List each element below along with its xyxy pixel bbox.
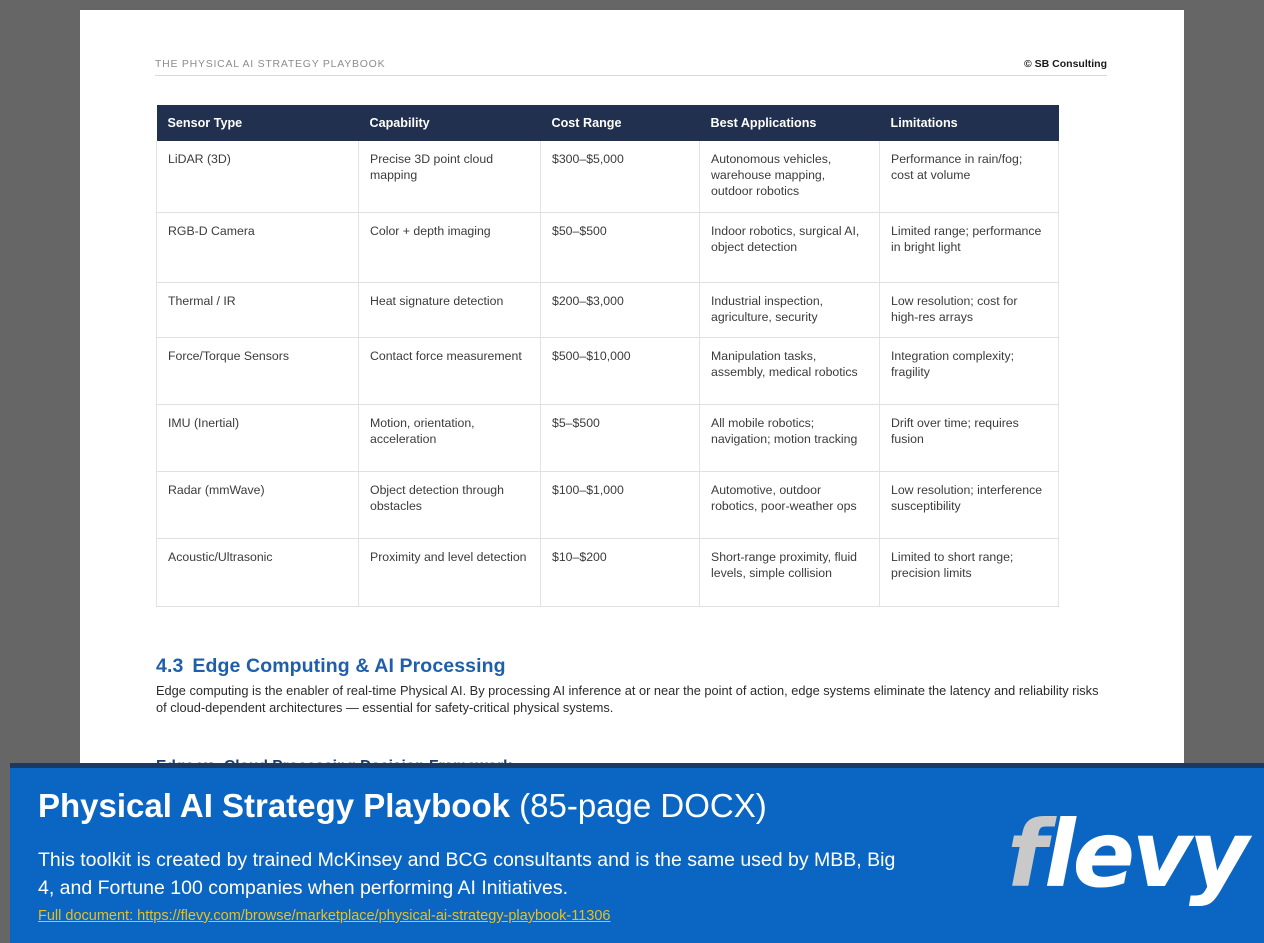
cell-capability: Proximity and level detection: [359, 539, 541, 607]
cell-best-applications: Automotive, outdoor robotics, poor-weath…: [700, 472, 880, 539]
cell-sensor-type: Acoustic/Ultrasonic: [157, 539, 359, 607]
cell-cost-range: $50–$500: [541, 212, 700, 282]
cell-limitations: Low resolution; cost for high-res arrays: [880, 282, 1059, 337]
table-row: IMU (Inertial) Motion, orientation, acce…: [157, 405, 1059, 472]
cell-cost-range: $200–$3,000: [541, 282, 700, 337]
copyright-notice: © SB Consulting: [1024, 58, 1107, 70]
column-header-capability: Capability: [359, 105, 541, 141]
flevy-logo[interactable]: flevy: [1007, 809, 1246, 901]
table-row: RGB-D Camera Color + depth imaging $50–$…: [157, 212, 1059, 282]
cell-limitations: Integration complexity; fragility: [880, 338, 1059, 405]
cell-best-applications: Manipulation tasks, assembly, medical ro…: [700, 338, 880, 405]
cell-capability: Object detection through obstacles: [359, 472, 541, 539]
cell-sensor-type: LiDAR (3D): [157, 141, 359, 212]
section-body-paragraph: Edge computing is the enabler of real-ti…: [156, 682, 1104, 716]
cell-cost-range: $10–$200: [541, 539, 700, 607]
column-header-cost-range: Cost Range: [541, 105, 700, 141]
table-row: Radar (mmWave) Object detection through …: [157, 472, 1059, 539]
banner-title-format: (85-page DOCX): [510, 787, 767, 824]
table-header-row: Sensor Type Capability Cost Range Best A…: [157, 105, 1059, 141]
screenshot-root: THE PHYSICAL AI STRATEGY PLAYBOOK © SB C…: [0, 0, 1264, 943]
cell-cost-range: $300–$5,000: [541, 141, 700, 212]
section-number: 4.3: [156, 655, 183, 677]
cell-limitations: Performance in rain/fog; cost at volume: [880, 141, 1059, 212]
cell-capability: Heat signature detection: [359, 282, 541, 337]
table-row: Force/Torque Sensors Contact force measu…: [157, 338, 1059, 405]
flevy-logo-levy: levy: [1044, 801, 1246, 908]
cell-best-applications: Autonomous vehicles, warehouse mapping, …: [700, 141, 880, 212]
cell-sensor-type: Force/Torque Sensors: [157, 338, 359, 405]
cell-cost-range: $5–$500: [541, 405, 700, 472]
cell-capability: Motion, orientation, acceleration: [359, 405, 541, 472]
cell-limitations: Limited to short range; precision limits: [880, 539, 1059, 607]
cell-sensor-type: Radar (mmWave): [157, 472, 359, 539]
cell-limitations: Drift over time; requires fusion: [880, 405, 1059, 472]
table-row: LiDAR (3D) Precise 3D point cloud mappin…: [157, 141, 1059, 212]
cell-capability: Color + depth imaging: [359, 212, 541, 282]
banner-document-link[interactable]: Full document: https://flevy.com/browse/…: [38, 908, 610, 924]
banner-title: Physical AI Strategy Playbook (85-page D…: [38, 789, 767, 822]
column-header-best-applications: Best Applications: [700, 105, 880, 141]
section-heading: 4.3Edge Computing & AI Processing: [156, 655, 506, 678]
cell-capability: Precise 3D point cloud mapping: [359, 141, 541, 212]
column-header-sensor-type: Sensor Type: [157, 105, 359, 141]
flevy-logo-f: f: [1007, 801, 1044, 908]
cell-best-applications: Industrial inspection, agriculture, secu…: [700, 282, 880, 337]
cell-best-applications: All mobile robotics; navigation; motion …: [700, 405, 880, 472]
document-title-header: THE PHYSICAL AI STRATEGY PLAYBOOK: [155, 58, 385, 70]
cell-sensor-type: IMU (Inertial): [157, 405, 359, 472]
banner-title-product: Physical AI Strategy Playbook: [38, 787, 510, 824]
cell-cost-range: $100–$1,000: [541, 472, 700, 539]
promo-banner: Physical AI Strategy Playbook (85-page D…: [10, 763, 1264, 943]
cell-sensor-type: Thermal / IR: [157, 282, 359, 337]
section-title: Edge Computing & AI Processing: [192, 655, 505, 677]
cell-limitations: Limited range; performance in bright lig…: [880, 212, 1059, 282]
banner-description: This toolkit is created by trained McKin…: [38, 846, 898, 903]
sensor-comparison-table: Sensor Type Capability Cost Range Best A…: [156, 105, 1059, 607]
cell-limitations: Low resolution; interference susceptibil…: [880, 472, 1059, 539]
table-row: Acoustic/Ultrasonic Proximity and level …: [157, 539, 1059, 607]
table-row: Thermal / IR Heat signature detection $2…: [157, 282, 1059, 337]
cell-sensor-type: RGB-D Camera: [157, 212, 359, 282]
column-header-limitations: Limitations: [880, 105, 1059, 141]
cell-capability: Contact force measurement: [359, 338, 541, 405]
banner-top-stripe: [10, 763, 1264, 768]
document-running-header: THE PHYSICAL AI STRATEGY PLAYBOOK © SB C…: [155, 58, 1107, 76]
cell-best-applications: Indoor robotics, surgical AI, object det…: [700, 212, 880, 282]
cell-best-applications: Short-range proximity, fluid levels, sim…: [700, 539, 880, 607]
cell-cost-range: $500–$10,000: [541, 338, 700, 405]
